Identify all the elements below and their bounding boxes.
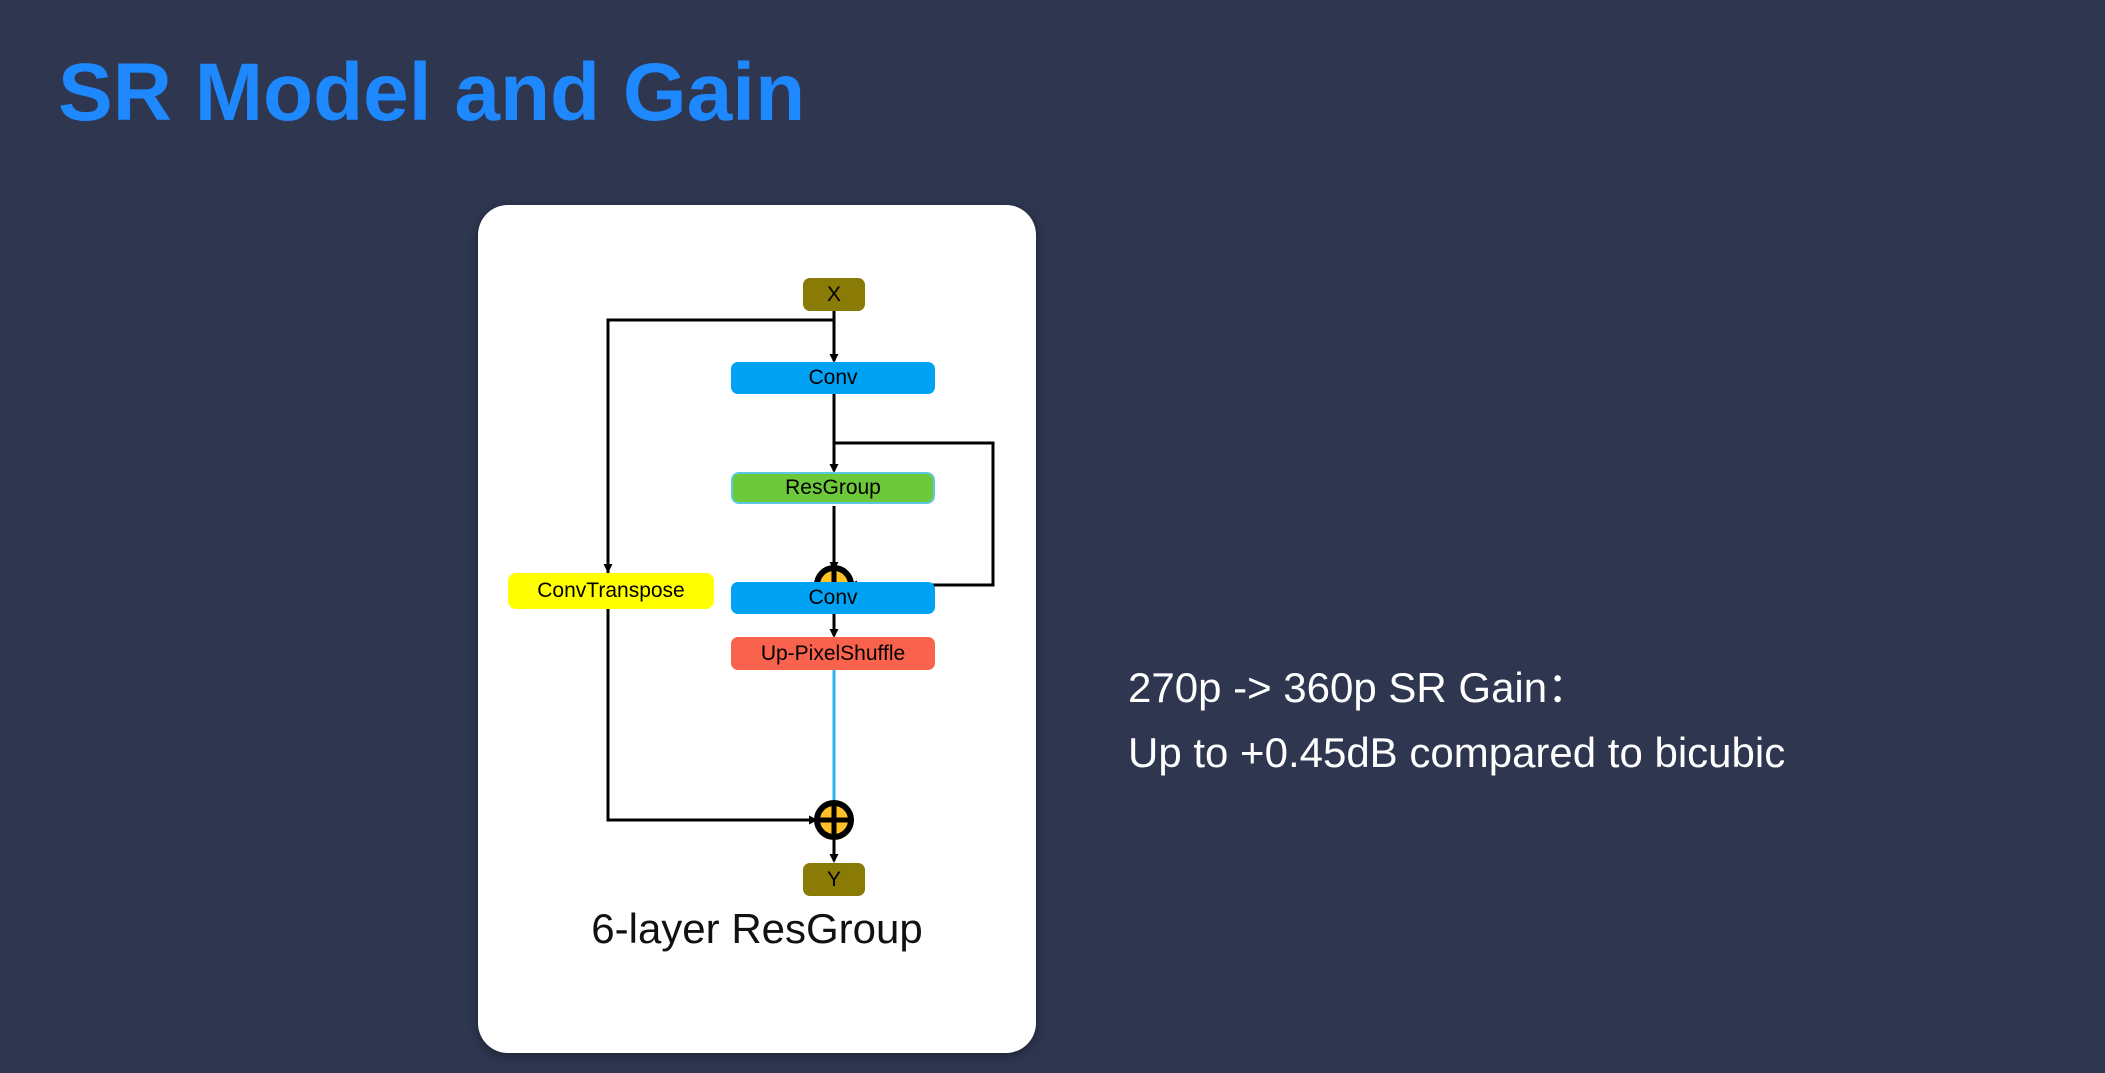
body-text-block: 270p -> 360p SR Gain： Up to +0.45dB comp…	[1128, 655, 2028, 785]
diagram-caption: 6-layer ResGroup	[478, 905, 1036, 953]
page-title: SR Model and Gain	[58, 52, 805, 134]
edge-x-to-convtranspose	[608, 320, 834, 571]
node-y[interactable]: Y	[803, 863, 865, 896]
node-conv-1[interactable]: Conv	[731, 362, 935, 394]
body-line-gain-value: Up to +0.45dB compared to bicubic	[1128, 720, 2028, 785]
edge-conv1-skip-to-add1	[834, 443, 993, 585]
node-convtranspose[interactable]: ConvTranspose	[508, 573, 714, 609]
node-up-pixelshuffle[interactable]: Up-PixelShuffle	[731, 637, 935, 670]
node-resgroup[interactable]: ResGroup	[731, 472, 935, 504]
body-line-gain-label: 270p -> 360p SR Gain：	[1128, 655, 2028, 720]
node-conv-2[interactable]: Conv	[731, 582, 935, 614]
diagram-card: X Conv ResGroup ConvTranspose Conv Up-Pi…	[478, 205, 1036, 1053]
node-x[interactable]: X	[803, 278, 865, 311]
